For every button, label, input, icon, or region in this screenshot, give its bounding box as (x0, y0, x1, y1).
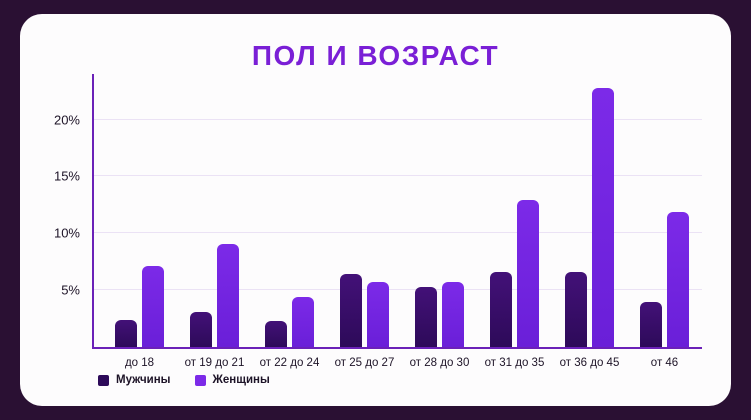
bar-female[interactable] (142, 266, 164, 347)
bar-group: от 46 (627, 72, 702, 347)
bar-group: от 22 до 24 (252, 72, 327, 347)
x-axis-tick-label: от 28 до 30 (410, 357, 470, 369)
bar-female[interactable] (517, 200, 539, 347)
bar-male[interactable] (415, 287, 437, 347)
x-axis-tick-label: от 31 до 35 (485, 357, 545, 369)
bar-group: от 25 до 27 (327, 72, 402, 347)
bar-female[interactable] (367, 282, 389, 347)
x-axis-tick-label: от 25 до 27 (335, 357, 395, 369)
bar-male[interactable] (565, 272, 587, 347)
y-axis-tick-label: 15% (36, 169, 80, 184)
bar-male[interactable] (265, 321, 287, 347)
bar-female[interactable] (592, 88, 614, 347)
y-axis-tick-label: 20% (36, 112, 80, 127)
bar-male[interactable] (340, 274, 362, 347)
bar-female[interactable] (292, 297, 314, 347)
bar-group: от 28 до 30 (402, 72, 477, 347)
bar-group: от 36 до 45 (552, 72, 627, 347)
y-axis-tick-label: 5% (36, 283, 80, 298)
bar-male[interactable] (115, 320, 137, 347)
bar-group: от 19 до 21 (177, 72, 252, 347)
chart-legend: МужчиныЖенщины (98, 374, 270, 386)
x-axis-tick-label: от 36 до 45 (560, 357, 620, 369)
bar-female[interactable] (217, 244, 239, 348)
bar-group: от 31 до 35 (477, 72, 552, 347)
plot-area: 5%10%15%20% до 18от 19 до 21от 22 до 24о… (92, 74, 702, 349)
legend-item[interactable]: Женщины (195, 374, 270, 386)
x-axis-tick-label: от 22 до 24 (260, 357, 320, 369)
x-axis-tick-label: до 18 (125, 357, 154, 369)
legend-label: Женщины (213, 374, 270, 386)
page-title: ПОЛ И ВОЗРАСТ (20, 40, 731, 72)
y-axis-line (92, 74, 94, 349)
x-axis-line (92, 347, 702, 349)
bar-female[interactable] (442, 282, 464, 347)
chart-card: ПОЛ И ВОЗРАСТ 5%10%15%20% до 18от 19 до … (20, 14, 731, 406)
x-axis-tick-label: от 46 (651, 357, 678, 369)
bar-male[interactable] (490, 272, 512, 347)
bar-female[interactable] (667, 212, 689, 347)
bar-male[interactable] (640, 302, 662, 348)
x-axis-tick-label: от 19 до 21 (185, 357, 245, 369)
legend-label: Мужчины (116, 374, 171, 386)
legend-item[interactable]: Мужчины (98, 374, 171, 386)
y-axis-tick-label: 10% (36, 226, 80, 241)
bar-group: до 18 (102, 72, 177, 347)
legend-swatch-icon (98, 375, 109, 386)
legend-swatch-icon (195, 375, 206, 386)
bar-male[interactable] (190, 312, 212, 347)
